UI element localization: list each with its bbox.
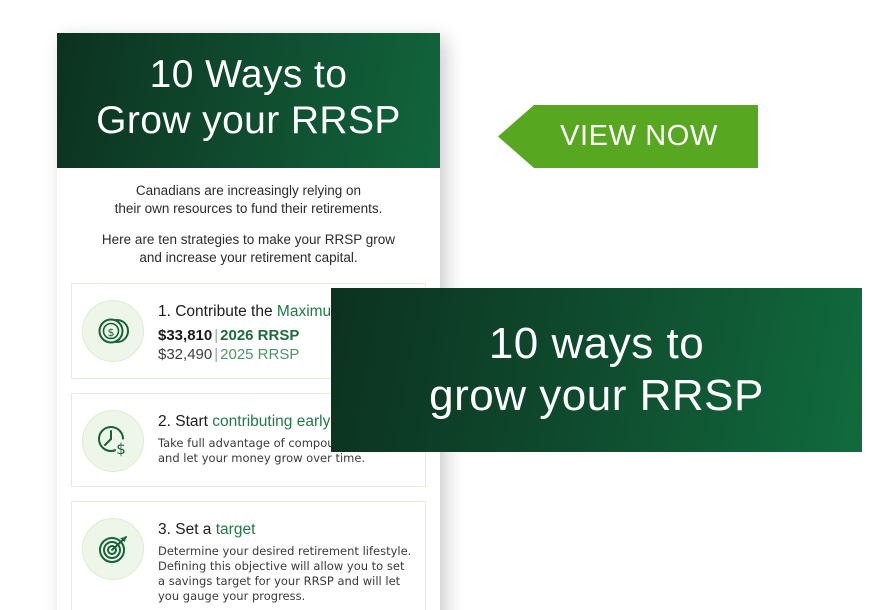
view-now-label: VIEW NOW <box>560 120 718 153</box>
tip-title-prefix: 3. Set a <box>158 521 216 538</box>
intro-p1-line1: Canadians are increasingly relying on <box>136 183 361 198</box>
dollar-coins-icon: $ <box>82 300 144 362</box>
page-root: 10 Ways to Grow your RRSP Canadians are … <box>0 0 893 610</box>
target-arrow-icon <box>82 518 144 580</box>
clock-dollar-icon: $ <box>82 410 144 472</box>
amount-separator: | <box>212 346 220 363</box>
list-item[interactable]: 3. Set a target Determine your desired r… <box>71 501 426 610</box>
tip-title-accent: contributing early <box>212 413 330 430</box>
tip-title-prefix: 1. Contribute the <box>158 303 277 320</box>
intro-p1-line2: their own resources to fund their retire… <box>115 201 383 216</box>
green-title-panel[interactable]: 10 ways to grow your RRSP <box>331 288 862 452</box>
tip-title: 3. Set a target <box>158 520 413 540</box>
intro-paragraph-2: Here are ten strategies to make your RRS… <box>83 231 414 267</box>
green-panel-title-line1: 10 ways to <box>489 318 704 370</box>
infographic-title-line1: 10 Ways to <box>150 52 348 98</box>
intro-p2-line1: Here are ten strategies to make your RRS… <box>102 232 395 247</box>
svg-text:$: $ <box>108 326 115 339</box>
infographic-intro: Canadians are increasingly relying on th… <box>57 168 440 275</box>
infographic-title-line2: Grow your RRSP <box>96 98 401 144</box>
tip-title-prefix: 2. Start <box>158 413 212 430</box>
amount-label: 2026 RRSP <box>220 327 299 344</box>
tip-title-accent: target <box>216 521 256 538</box>
amount-label: 2025 RRSP <box>220 346 299 363</box>
amount-value: $32,490 <box>158 346 212 363</box>
intro-paragraph-1: Canadians are increasingly relying on th… <box>83 182 414 218</box>
amount-value: $33,810 <box>158 327 212 344</box>
amount-separator: | <box>212 327 220 344</box>
tip-body: 3. Set a target Determine your desired r… <box>158 516 413 604</box>
intro-p2-line2: and increase your retirement capital. <box>139 250 357 265</box>
tip-description: Determine your desired retirement lifest… <box>158 544 413 604</box>
infographic-header: 10 Ways to Grow your RRSP <box>57 33 440 168</box>
svg-text:$: $ <box>116 440 126 458</box>
green-panel-title-line2: grow your RRSP <box>429 370 764 422</box>
view-now-button[interactable]: VIEW NOW <box>498 105 758 168</box>
